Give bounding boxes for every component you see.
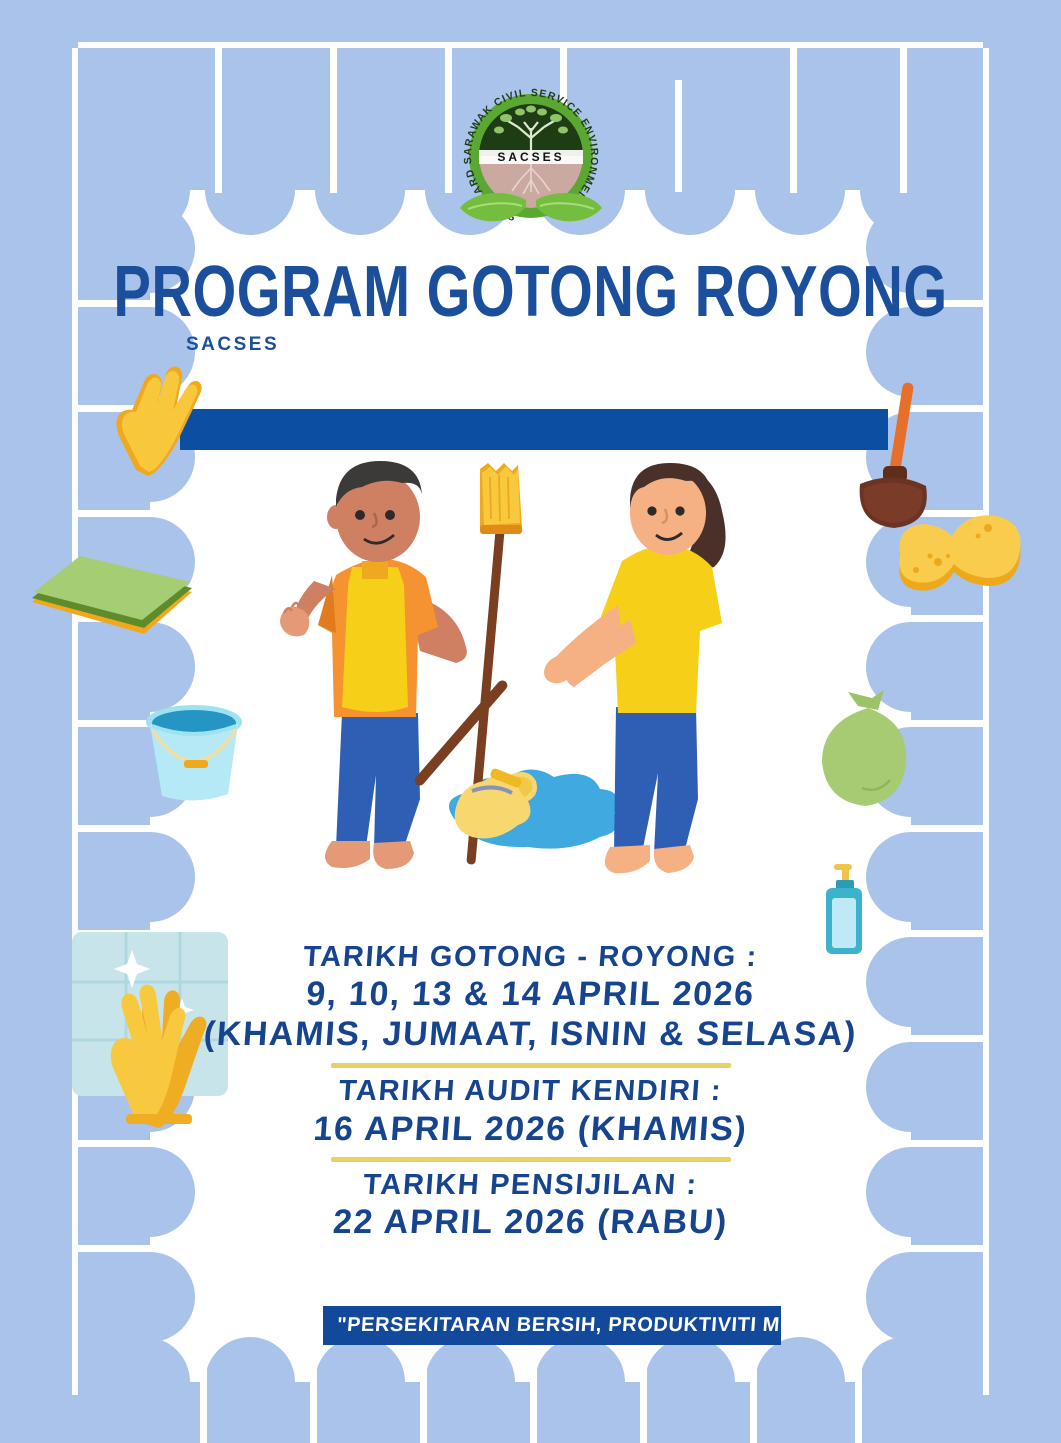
cleaning-gloves-icon (92, 352, 222, 482)
title-accent-bar (180, 409, 888, 450)
logo-center-text: SACSES (497, 150, 564, 164)
yellow-sponge-icon (890, 500, 1030, 610)
green-sponge-icon (26, 540, 196, 650)
tagline-text: "PERSEKITARAN BERSIH, PRODUKTIVITI MENIN… (336, 1314, 781, 1337)
audit-kendiri-label: TARIKH AUDIT KENDIRI : (0, 1074, 1061, 1108)
poster-title-block: PROGRAM GOTONG ROYONG (0, 256, 1061, 314)
page-title: PROGRAM GOTONG ROYONG (16, 256, 1045, 329)
gotong-royong-days: (KHAMIS, JUMAAT, ISNIN & SELASA) (0, 1014, 1061, 1054)
gotong-royong-label: TARIKH GOTONG - ROYONG : (0, 940, 1061, 974)
divider-rule-1 (331, 1063, 731, 1068)
pensijilan-label: TARIKH PENSIJILAN : (0, 1168, 1061, 1202)
sacses-logo: SACSES STANDARD SARAWAK CIVIL SERVICE EN… (0, 88, 1061, 238)
trash-bag-icon (812, 688, 922, 818)
pensijilan-date: 22 APRIL 2026 (RABU) (0, 1202, 1061, 1242)
water-bucket-icon (136, 700, 256, 810)
poster-canvas: SACSES STANDARD SARAWAK CIVIL SERVICE EN… (0, 0, 1061, 1443)
date-details-block: TARIKH GOTONG - ROYONG : 9, 10, 13 & 14 … (0, 940, 1061, 1242)
tagline-banner: "PERSEKITARAN BERSIH, PRODUKTIVITI MENIN… (323, 1306, 781, 1345)
gotong-royong-date: 9, 10, 13 & 14 APRIL 2026 (0, 974, 1061, 1014)
cleaning-illustration (270, 455, 800, 905)
divider-rule-2 (331, 1157, 731, 1162)
audit-kendiri-date: 16 APRIL 2026 (KHAMIS) (0, 1109, 1061, 1149)
